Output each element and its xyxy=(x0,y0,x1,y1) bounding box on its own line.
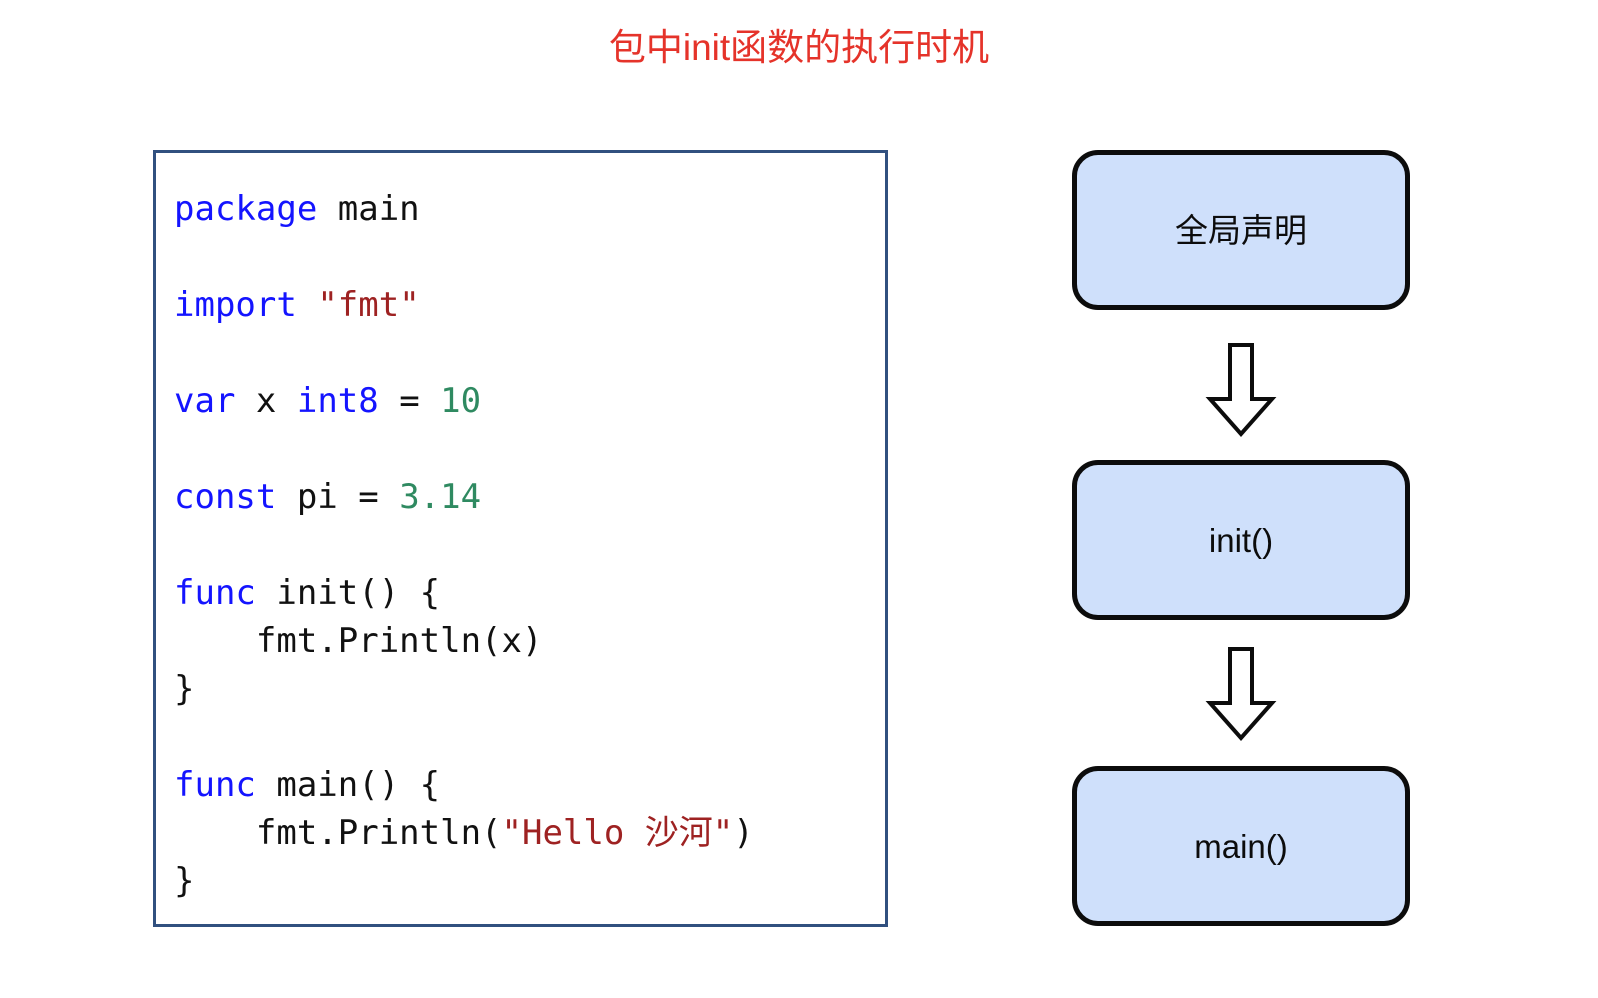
code-line: func main() { xyxy=(174,761,754,809)
code-line: const pi = 3.14 xyxy=(174,473,754,521)
code-token-plain xyxy=(297,285,317,325)
code-line xyxy=(174,713,754,761)
code-line xyxy=(174,329,754,377)
flow-box-label: init() xyxy=(1209,524,1273,557)
code-token-keyword: package xyxy=(174,189,317,229)
code-token-plain: fmt.Println(x) xyxy=(174,621,542,661)
code-line: fmt.Println("Hello 沙河") xyxy=(174,809,754,857)
flow-box-main: main() xyxy=(1072,766,1410,926)
code-token-string: "fmt" xyxy=(317,285,419,325)
code-block: package main import "fmt" var x int8 = 1… xyxy=(174,185,754,905)
down-arrow-icon xyxy=(1205,342,1277,438)
code-panel: package main import "fmt" var x int8 = 1… xyxy=(153,150,888,927)
code-token-plain: init() { xyxy=(256,573,440,613)
code-line: } xyxy=(174,857,754,905)
code-line xyxy=(174,425,754,473)
code-line: fmt.Println(x) xyxy=(174,617,754,665)
flow-box-global-declaration: 全局声明 xyxy=(1072,150,1410,310)
flow-box-init: init() xyxy=(1072,460,1410,620)
code-token-plain: } xyxy=(174,861,194,901)
code-line: import "fmt" xyxy=(174,281,754,329)
code-token-plain: } xyxy=(174,669,194,709)
flowchart: 全局声明 init() main() xyxy=(1068,146,1414,926)
code-token-keyword: func xyxy=(174,765,256,805)
code-token-plain: pi = xyxy=(276,477,399,517)
code-line: package main xyxy=(174,185,754,233)
flow-box-label: main() xyxy=(1194,830,1288,863)
code-token-plain: main xyxy=(317,189,419,229)
code-token-plain: main() { xyxy=(256,765,440,805)
code-token-number: 10 xyxy=(440,381,481,421)
page-title: 包中init函数的执行时机 xyxy=(0,26,1598,70)
code-line: var x int8 = 10 xyxy=(174,377,754,425)
code-token-number: 3.14 xyxy=(399,477,481,517)
down-arrow-icon xyxy=(1205,646,1277,742)
code-token-string: "Hello 沙河" xyxy=(502,813,734,853)
code-token-keyword: import xyxy=(174,285,297,325)
code-token-plain: fmt.Println( xyxy=(174,813,502,853)
code-token-keyword: var xyxy=(174,381,235,421)
code-token-plain: ) xyxy=(733,813,753,853)
code-token-keyword: const xyxy=(174,477,276,517)
code-line: } xyxy=(174,665,754,713)
code-token-plain: x xyxy=(235,381,296,421)
code-line xyxy=(174,521,754,569)
code-token-keyword: func xyxy=(174,573,256,613)
code-line: func init() { xyxy=(174,569,754,617)
flow-box-label: 全局声明 xyxy=(1175,214,1307,247)
code-line xyxy=(174,233,754,281)
code-token-plain: = xyxy=(379,381,440,421)
code-token-keyword: int8 xyxy=(297,381,379,421)
